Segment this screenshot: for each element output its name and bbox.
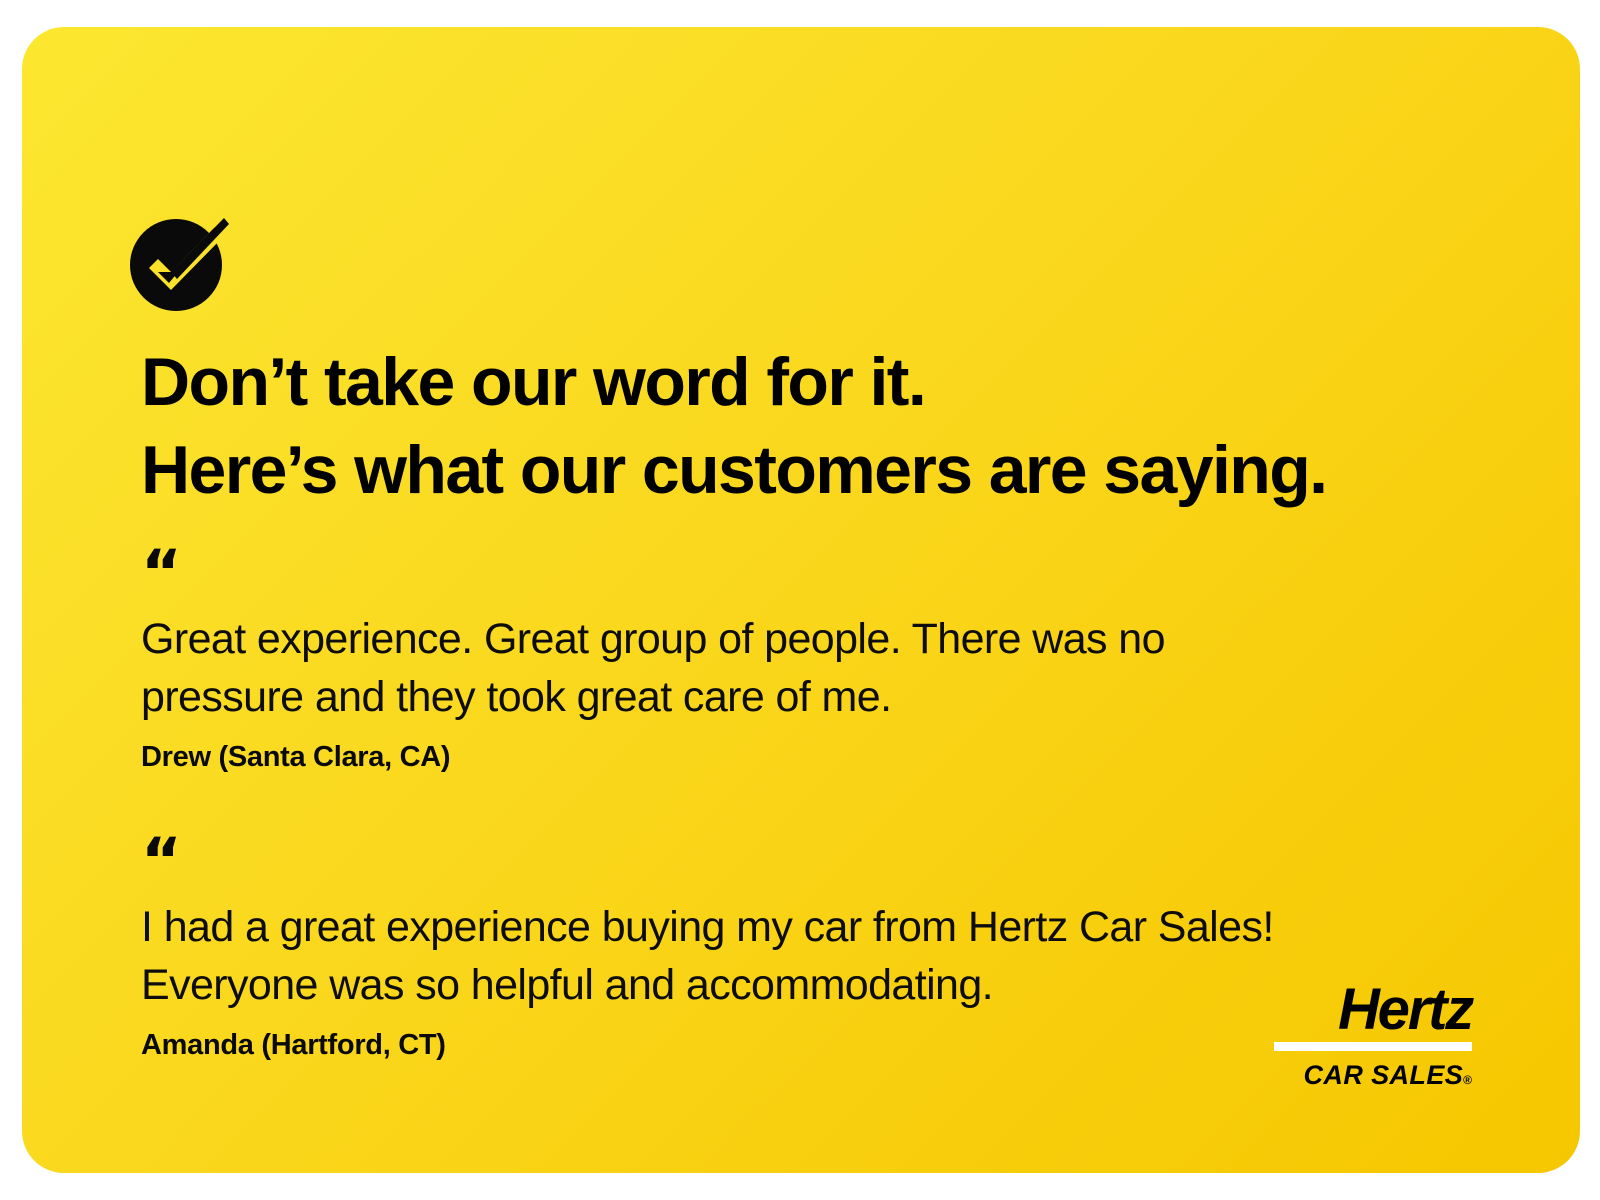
logo-subtitle: CAR SALES®: [1260, 1060, 1472, 1095]
quote-line-1: I had a great experience buying my car f…: [141, 898, 1501, 956]
registered-trademark-icon: ®: [1463, 1073, 1472, 1087]
testimonial-author: Drew (Santa Clara, CA): [141, 738, 1501, 776]
testimonial-item: “ Great experience. Great group of peopl…: [141, 552, 1501, 776]
logo-underline-bar: [1274, 1042, 1472, 1051]
page-title: Don’t take our word for it. Here’s what …: [141, 338, 1481, 514]
hertz-car-sales-logo: Hertz CAR SALES®: [1260, 980, 1472, 1095]
quote-line-1: Great experience. Great group of people.…: [141, 610, 1501, 668]
logo-subtitle-text: CAR SALES: [1304, 1060, 1464, 1090]
quote-line-2: pressure and they took great care of me.: [141, 668, 1501, 726]
quote-mark-icon: “: [141, 552, 1501, 596]
testimonial-quote: Great experience. Great group of people.…: [141, 610, 1501, 726]
check-circle-icon: [125, 211, 243, 319]
testimonial-card: Don’t take our word for it. Here’s what …: [22, 27, 1580, 1173]
headline-line-2: Here’s what our customers are saying.: [141, 426, 1481, 514]
headline-line-1: Don’t take our word for it.: [141, 338, 1481, 426]
hertz-wordmark: Hertz: [1260, 980, 1472, 1040]
quote-mark-icon: “: [141, 840, 1501, 884]
